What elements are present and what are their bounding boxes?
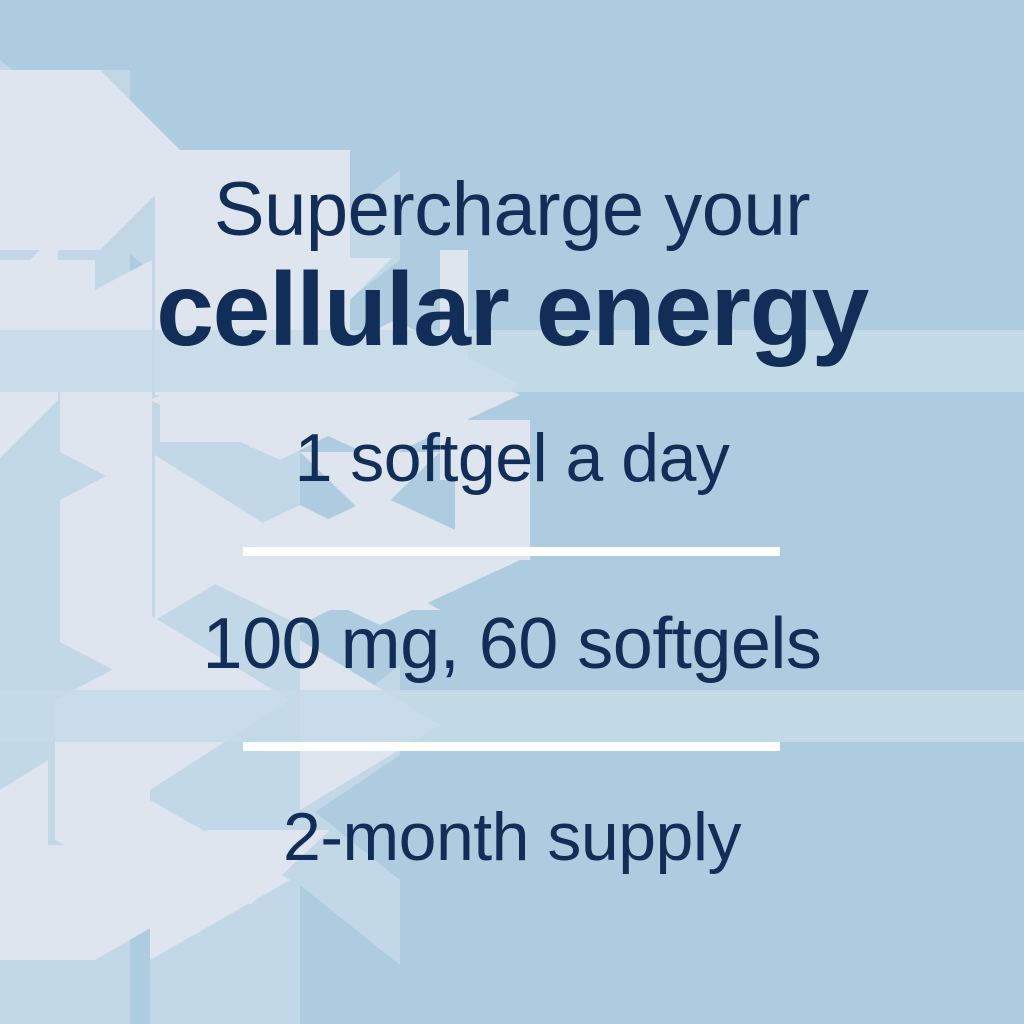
- spec-strength-count: 100 mg, 60 softgels: [0, 608, 1024, 680]
- product-feature-card: Supercharge your cellular energy 1 softg…: [0, 0, 1024, 1024]
- spec-supply-duration: 2-month supply: [0, 803, 1024, 871]
- headline-text: cellular energy: [0, 258, 1024, 362]
- spec-dosage-frequency: 1 softgel a day: [0, 424, 1024, 492]
- eyebrow-text: Supercharge your: [0, 172, 1024, 248]
- copy-stack: Supercharge your cellular energy 1 softg…: [0, 0, 1024, 1024]
